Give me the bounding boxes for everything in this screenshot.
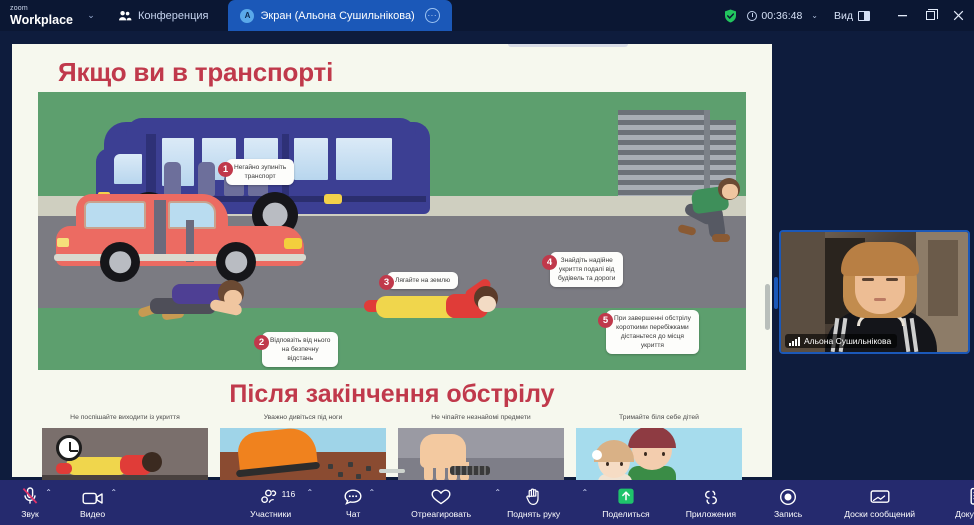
security-shield-icon[interactable] — [724, 9, 737, 23]
tip-illustration-keep-children — [576, 428, 742, 484]
toolbar-share-label: Поделиться — [602, 509, 649, 519]
signal-bars-icon — [789, 337, 800, 346]
toolbar-audio-label: Звук — [21, 509, 39, 519]
maximize-icon — [926, 11, 935, 20]
toolbar-record-button[interactable]: Запись — [774, 480, 802, 525]
document-icon — [969, 486, 974, 506]
layout-view-icon — [858, 11, 870, 21]
tip-caption: Уважно дивіться під ноги — [220, 414, 386, 424]
callout-3: 3 Лягайте на землю — [379, 272, 458, 290]
heart-icon — [430, 486, 452, 506]
slide-subtitle: Після закінчення обстрілу — [12, 380, 772, 409]
toolbar-video-label: Видео — [80, 509, 105, 519]
toolbar-documents-label: Документы — [955, 509, 974, 519]
toolbar-apps-button[interactable]: Приложения — [686, 480, 736, 525]
tab-conference[interactable]: Конференция — [104, 0, 220, 31]
tip-illustration-watch-feet — [220, 428, 386, 484]
callout-text: Негайно зупиніть транспорт — [226, 159, 294, 185]
toolbar-reactions-button[interactable]: Отреагировать ⌃ — [411, 480, 471, 525]
toolbar-documents-button[interactable]: Документы — [955, 480, 974, 525]
toolbar-chat-button[interactable]: Чат ⌃ — [343, 480, 363, 525]
camera-icon — [82, 486, 104, 506]
callout-number: 5 — [598, 313, 613, 328]
whiteboard-icon — [869, 486, 891, 506]
tip-illustration-shelter — [42, 428, 208, 484]
callout-1: 1 Негайно зупиніть транспорт — [218, 159, 294, 185]
callout-2: 2 Відповзіть від нього на безпечну відст… — [254, 332, 338, 367]
tab-conference-label: Конференция — [138, 10, 208, 22]
apps-icon — [701, 486, 721, 506]
participants-icon: 116 — [260, 486, 282, 506]
toolbar-share-button[interactable]: Поделиться — [602, 480, 649, 525]
toolbar-raise-hand-button[interactable]: Поднять руку ⌃ — [507, 480, 560, 525]
crawling-person-illustration — [144, 280, 262, 324]
meeting-stage: Якщо ви в транспорті — [0, 31, 974, 480]
meeting-timer[interactable]: 00:36:48 ⌄ — [747, 10, 818, 22]
callout-number: 2 — [254, 335, 269, 350]
callout-text: Відповзіть від нього на безпечну відстан… — [262, 332, 338, 367]
tip-caption: Не поспішайте виходити із укриття — [42, 414, 208, 424]
avatar: A — [240, 9, 254, 23]
callout-number: 4 — [542, 255, 557, 270]
raise-hand-icon — [525, 486, 543, 506]
minimize-button[interactable] — [888, 0, 916, 31]
brand-zoom-text: zoom — [10, 5, 78, 13]
callout-number: 3 — [379, 275, 394, 290]
callout-5: 5 При завершенні обстрілу короткими пере… — [598, 310, 699, 354]
people-icon — [118, 10, 132, 22]
running-person-illustration — [686, 178, 744, 250]
participants-count: 116 — [282, 489, 296, 499]
chevron-up-icon[interactable]: ⌃ — [306, 488, 313, 497]
chevron-up-icon[interactable]: ⌃ — [110, 488, 117, 497]
view-button-label: Вид — [834, 10, 853, 22]
callout-text: При завершенні обстрілу короткими перебі… — [606, 310, 699, 354]
lying-person-illustration — [368, 288, 500, 326]
toolbar-whiteboard-label: Доски сообщений — [844, 509, 915, 519]
callout-text: Знайдіть надійне укриття подалі від буді… — [550, 252, 623, 287]
shared-screen-slide[interactable]: Якщо ви в транспорті — [12, 44, 772, 477]
slide-scrollbar[interactable] — [765, 284, 770, 330]
share-screen-icon — [616, 486, 636, 506]
slide-title: Якщо ви в транспорті — [58, 57, 333, 88]
tab-screen-share-label: Экран (Альона Сушильнікова) — [260, 10, 414, 22]
chevron-up-icon[interactable]: ⌃ — [368, 488, 375, 497]
participant-video-tile[interactable]: Альона Сушильнікова — [779, 230, 970, 354]
toolbar-record-label: Запись — [774, 509, 802, 519]
toolbar-participants-label: Участники — [250, 509, 291, 519]
meeting-timer-value: 00:36:48 — [761, 10, 802, 22]
brand-workplace-text: Workplace — [10, 13, 78, 27]
tip-caption: Тримайте біля себе дітей — [576, 414, 742, 424]
toolbar-audio-button[interactable]: Звук ⌃ — [20, 480, 40, 525]
close-button[interactable] — [944, 0, 972, 31]
toolbar-participants-button[interactable]: 116 Участники ⌃ — [250, 480, 291, 525]
chevron-up-icon[interactable]: ⌃ — [494, 488, 501, 497]
zoom-workplace-logo: zoom Workplace — [0, 0, 78, 31]
participant-name: Альона Сушильнікова — [804, 336, 891, 346]
tip-illustration-do-not-touch — [398, 428, 564, 484]
tip-caption: Не чіпайте незнайомі предмети — [398, 414, 564, 424]
car-illustration — [56, 190, 306, 282]
toolbar-whiteboard-button[interactable]: Доски сообщений — [844, 480, 915, 525]
record-icon — [779, 486, 797, 506]
toolbar-apps-label: Приложения — [686, 509, 736, 519]
thumbnail-strip-handle[interactable] — [774, 277, 778, 309]
zoom-window: zoom Workplace ⌄ Конференция A Экран (Ал… — [0, 0, 974, 525]
chat-bubble-icon — [343, 486, 363, 506]
chevron-down-icon[interactable]: ⌄ — [811, 11, 818, 20]
tab-screen-share[interactable]: A Экран (Альона Сушильнікова) ··· — [228, 0, 451, 31]
microphone-muted-icon — [20, 486, 40, 506]
chevron-up-icon[interactable]: ⌃ — [582, 488, 589, 497]
callout-number: 1 — [218, 162, 233, 177]
meeting-toolbar: Звук ⌃ Видео ⌃ 116 — [0, 480, 974, 525]
toolbar-video-button[interactable]: Видео ⌃ — [80, 480, 105, 525]
chevron-up-icon[interactable]: ⌃ — [45, 488, 52, 497]
view-button[interactable]: Вид — [834, 10, 870, 22]
tab-more-icon[interactable]: ··· — [425, 8, 440, 23]
clock-icon — [747, 11, 757, 21]
slide-pager-indicator[interactable] — [379, 469, 405, 473]
participant-name-badge: Альона Сушильнікова — [785, 334, 897, 348]
maximize-button[interactable] — [916, 0, 944, 31]
chevron-down-icon[interactable]: ⌄ — [78, 0, 104, 31]
toolbar-chat-label: Чат — [346, 509, 360, 519]
title-bar: zoom Workplace ⌄ Конференция A Экран (Ал… — [0, 0, 974, 31]
toolbar-reactions-label: Отреагировать — [411, 509, 471, 519]
titlebar-right-controls: 00:36:48 ⌄ Вид — [724, 0, 974, 31]
toolbar-raise-hand-label: Поднять руку — [507, 509, 560, 519]
callout-text: Лягайте на землю — [387, 272, 458, 289]
callout-4: 4 Знайдіть надійне укриття подалі від бу… — [542, 252, 623, 287]
